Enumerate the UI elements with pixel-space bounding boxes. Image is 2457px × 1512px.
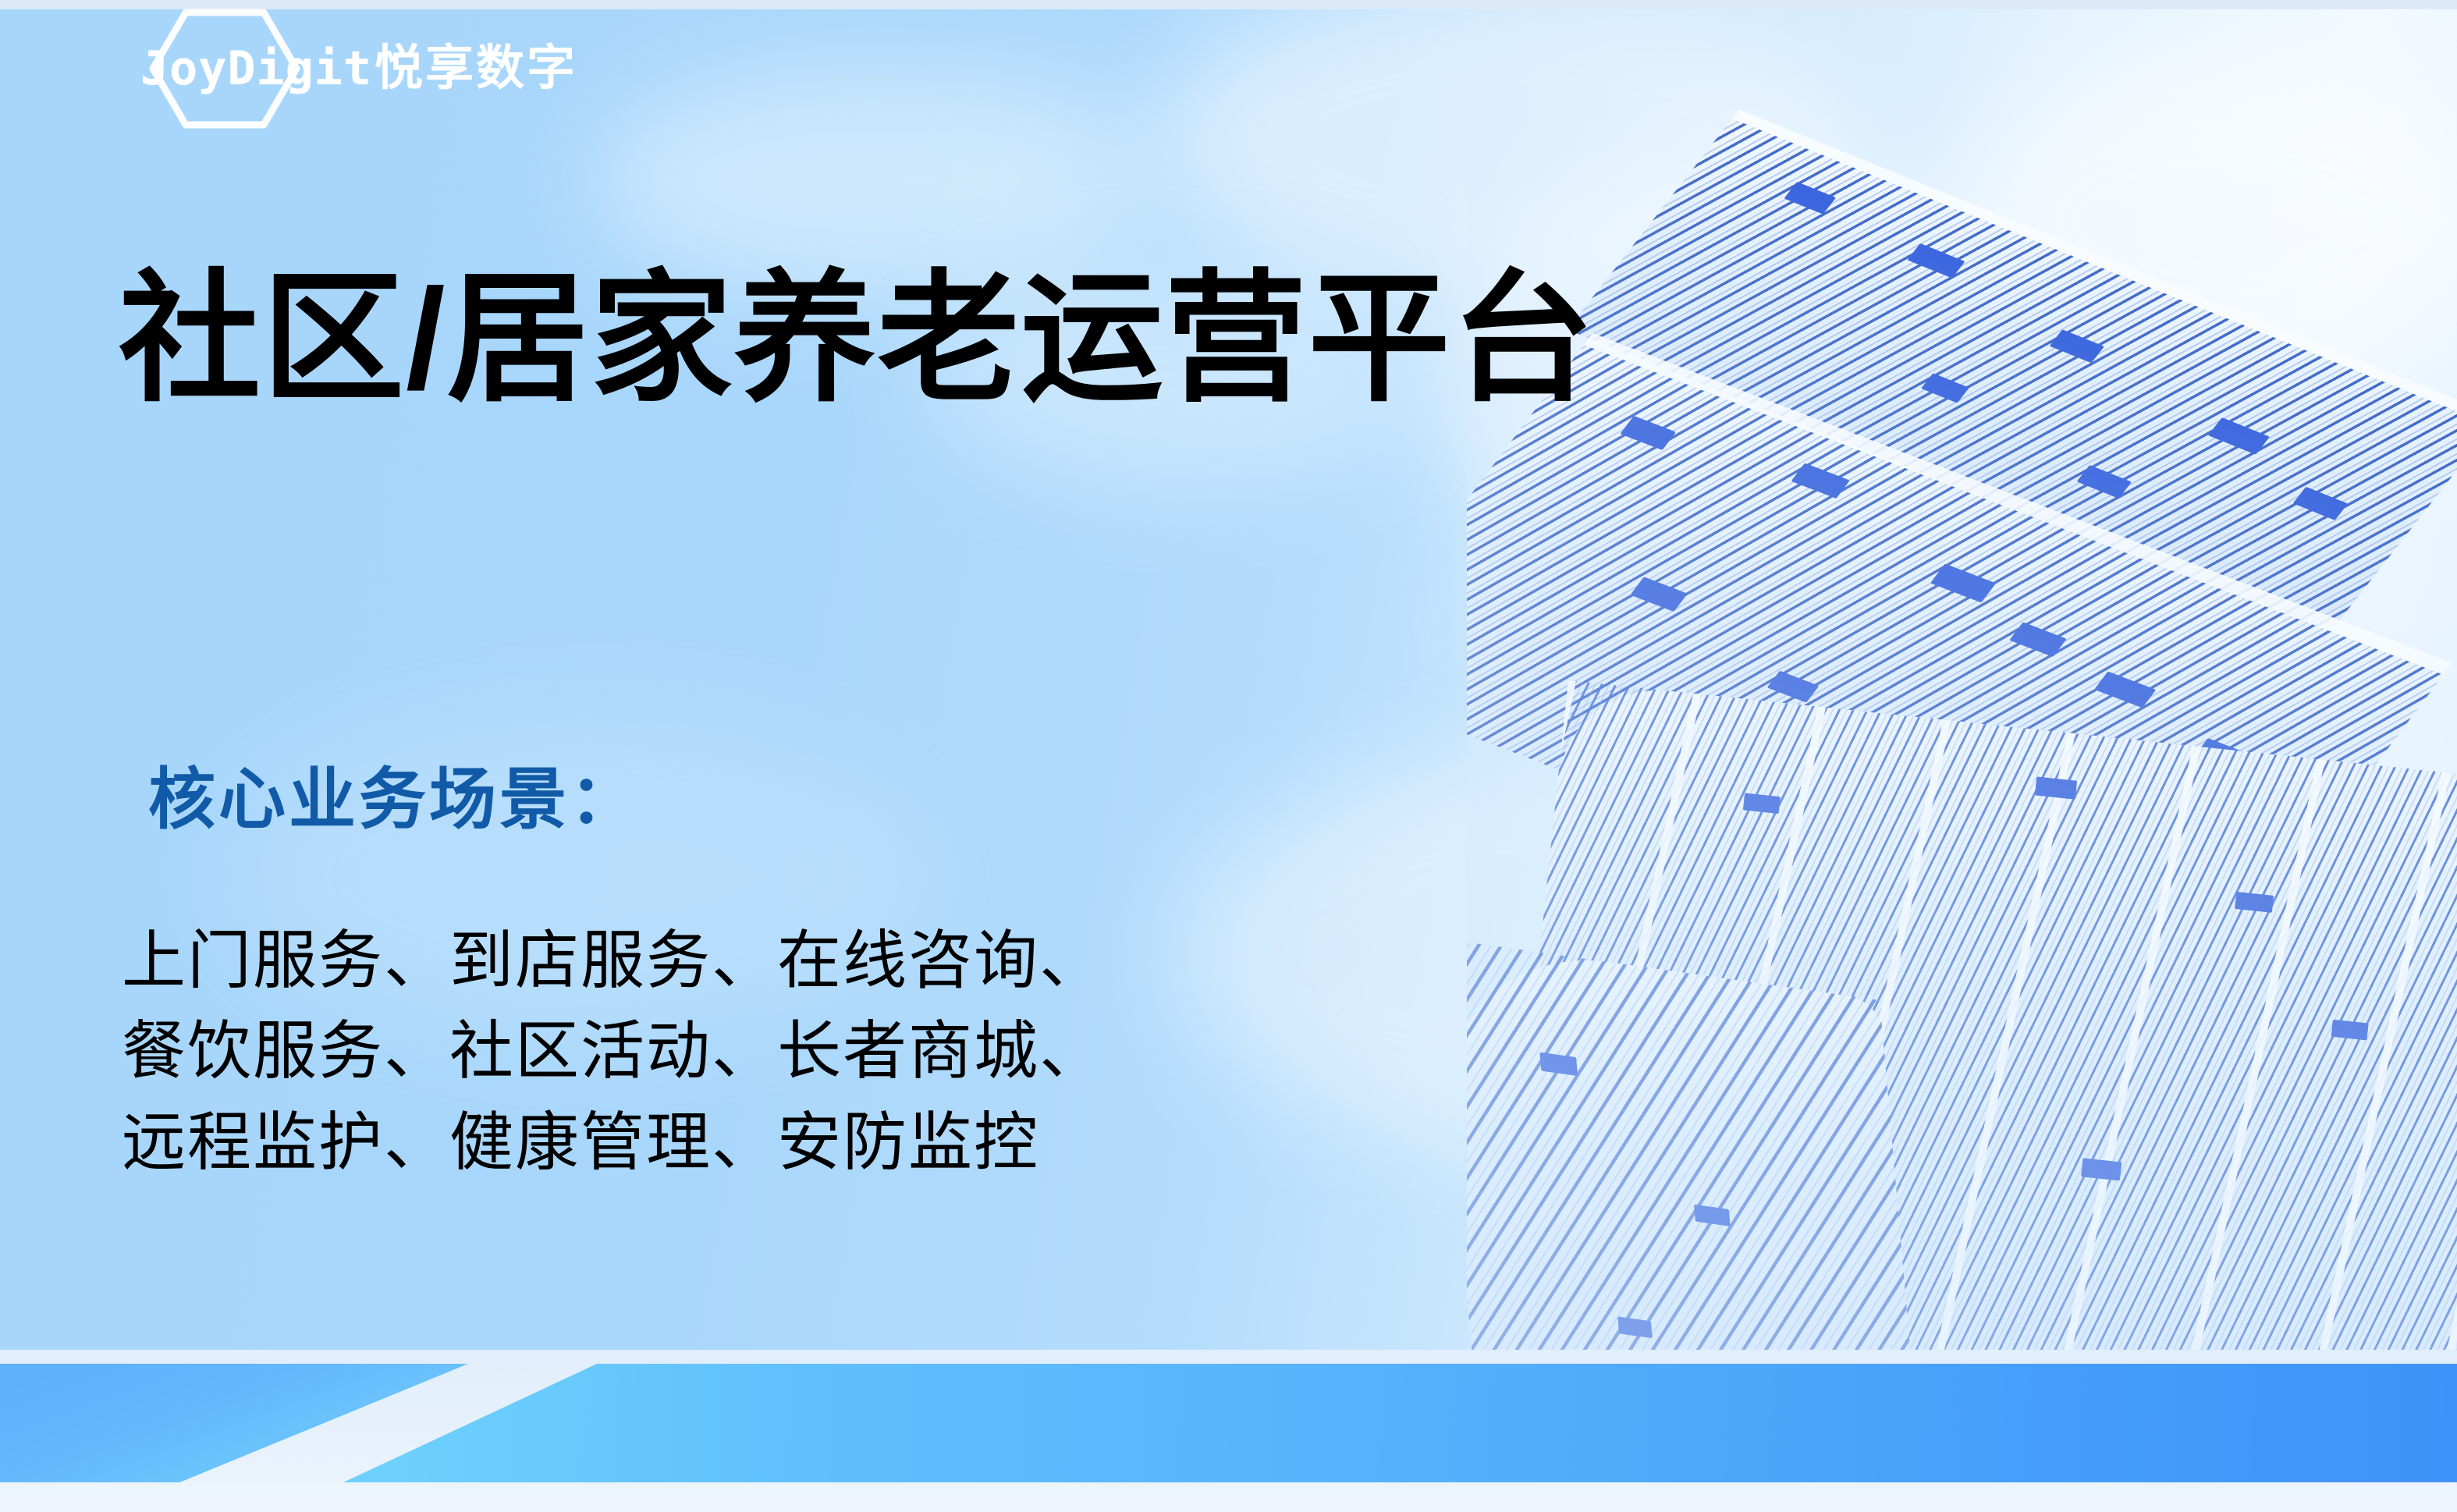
logo-mark: JoyDigit [139,28,373,109]
scenario-line: 远程监护、健康管理、安防监控 [122,1098,1105,1188]
brand-logo[interactable]: JoyDigit 悦享数字 [139,28,577,109]
building-curved-wing [1467,938,1920,1367]
slide-root: JoyDigit 悦享数字 社区/居家养老运营平台 核心业务场景： 上门服务、到… [0,0,2457,1512]
window-accent [1743,793,1781,814]
section-heading: 核心业务场景： [148,766,640,833]
band-right-shape [343,1364,2457,1482]
logo-chinese-text: 悦享数字 [375,44,577,93]
scenario-list: 上门服务、到店服务、在线咨询、 餐饮服务、社区活动、长者商城、 远程监护、健康管… [122,916,1105,1188]
skyscraper-photo [1467,9,2457,1367]
bottom-decorative-band [0,1350,2457,1512]
facade-stripes [1467,938,1920,1367]
logo-latin-text: JoyDigit [139,45,372,92]
scenario-line: 上门服务、到店服务、在线咨询、 [122,916,1105,1006]
window-accent [2081,1158,2121,1180]
scenario-line: 餐饮服务、社区活动、长者商城、 [122,1006,1105,1097]
top-edge-strip [0,0,2457,9]
page-title: 社区/居家养老运营平台 [119,262,1596,416]
window-accent [2331,1020,2369,1041]
